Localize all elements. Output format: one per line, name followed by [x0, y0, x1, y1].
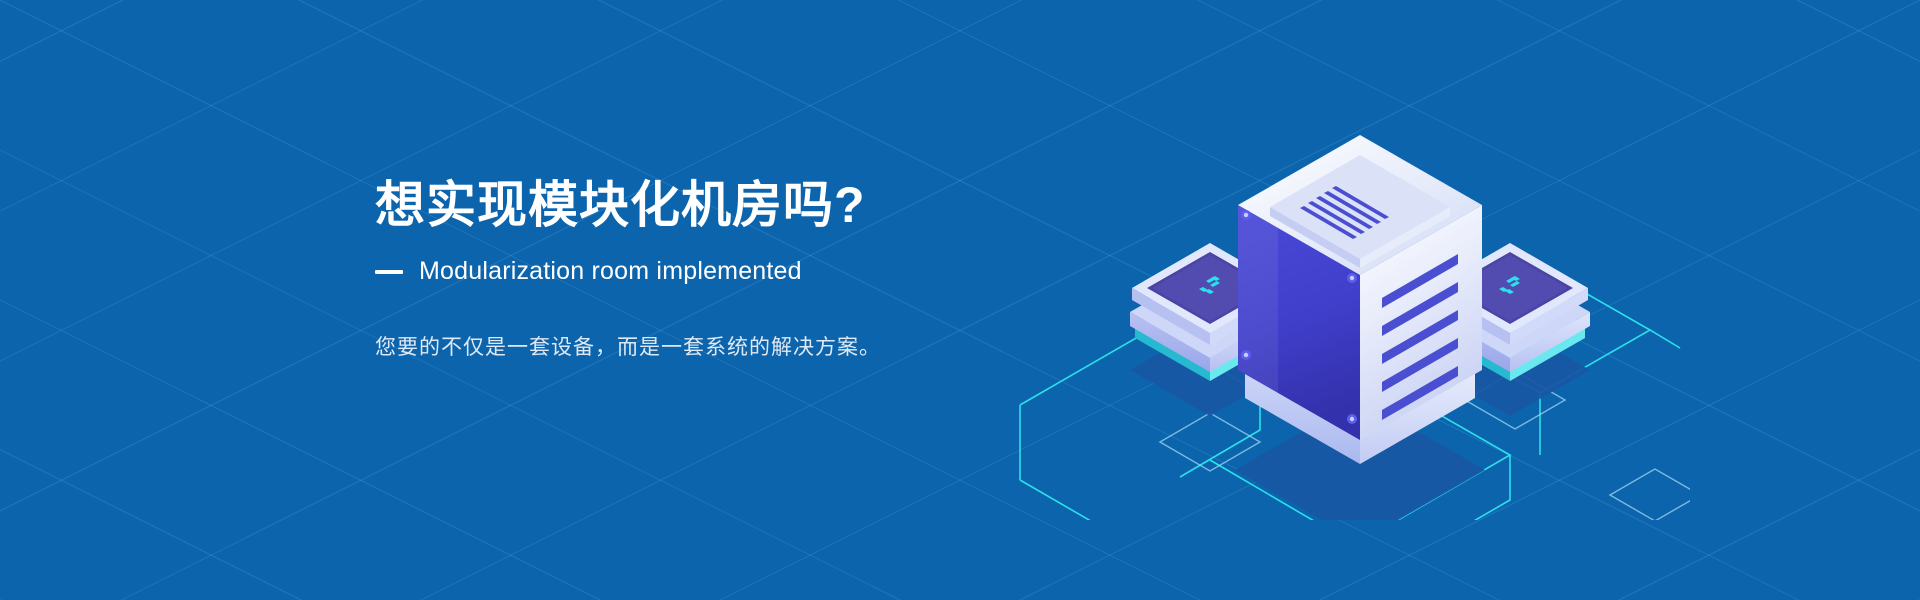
hero-copy: 想实现模块化机房吗? Modularization room implement…: [375, 176, 1135, 386]
subtitle-row: Modularization room implemented: [375, 257, 1135, 286]
dash-icon: [375, 270, 403, 274]
page-title: 想实现模块化机房吗?: [375, 176, 1135, 235]
hero-banner: 想实现模块化机房吗? Modularization room implement…: [0, 0, 1920, 600]
hero-description: 您要的不仅是一套设备，而是一套系统的解决方案。: [375, 331, 1135, 365]
page-subtitle: Modularization room implemented: [419, 257, 802, 286]
